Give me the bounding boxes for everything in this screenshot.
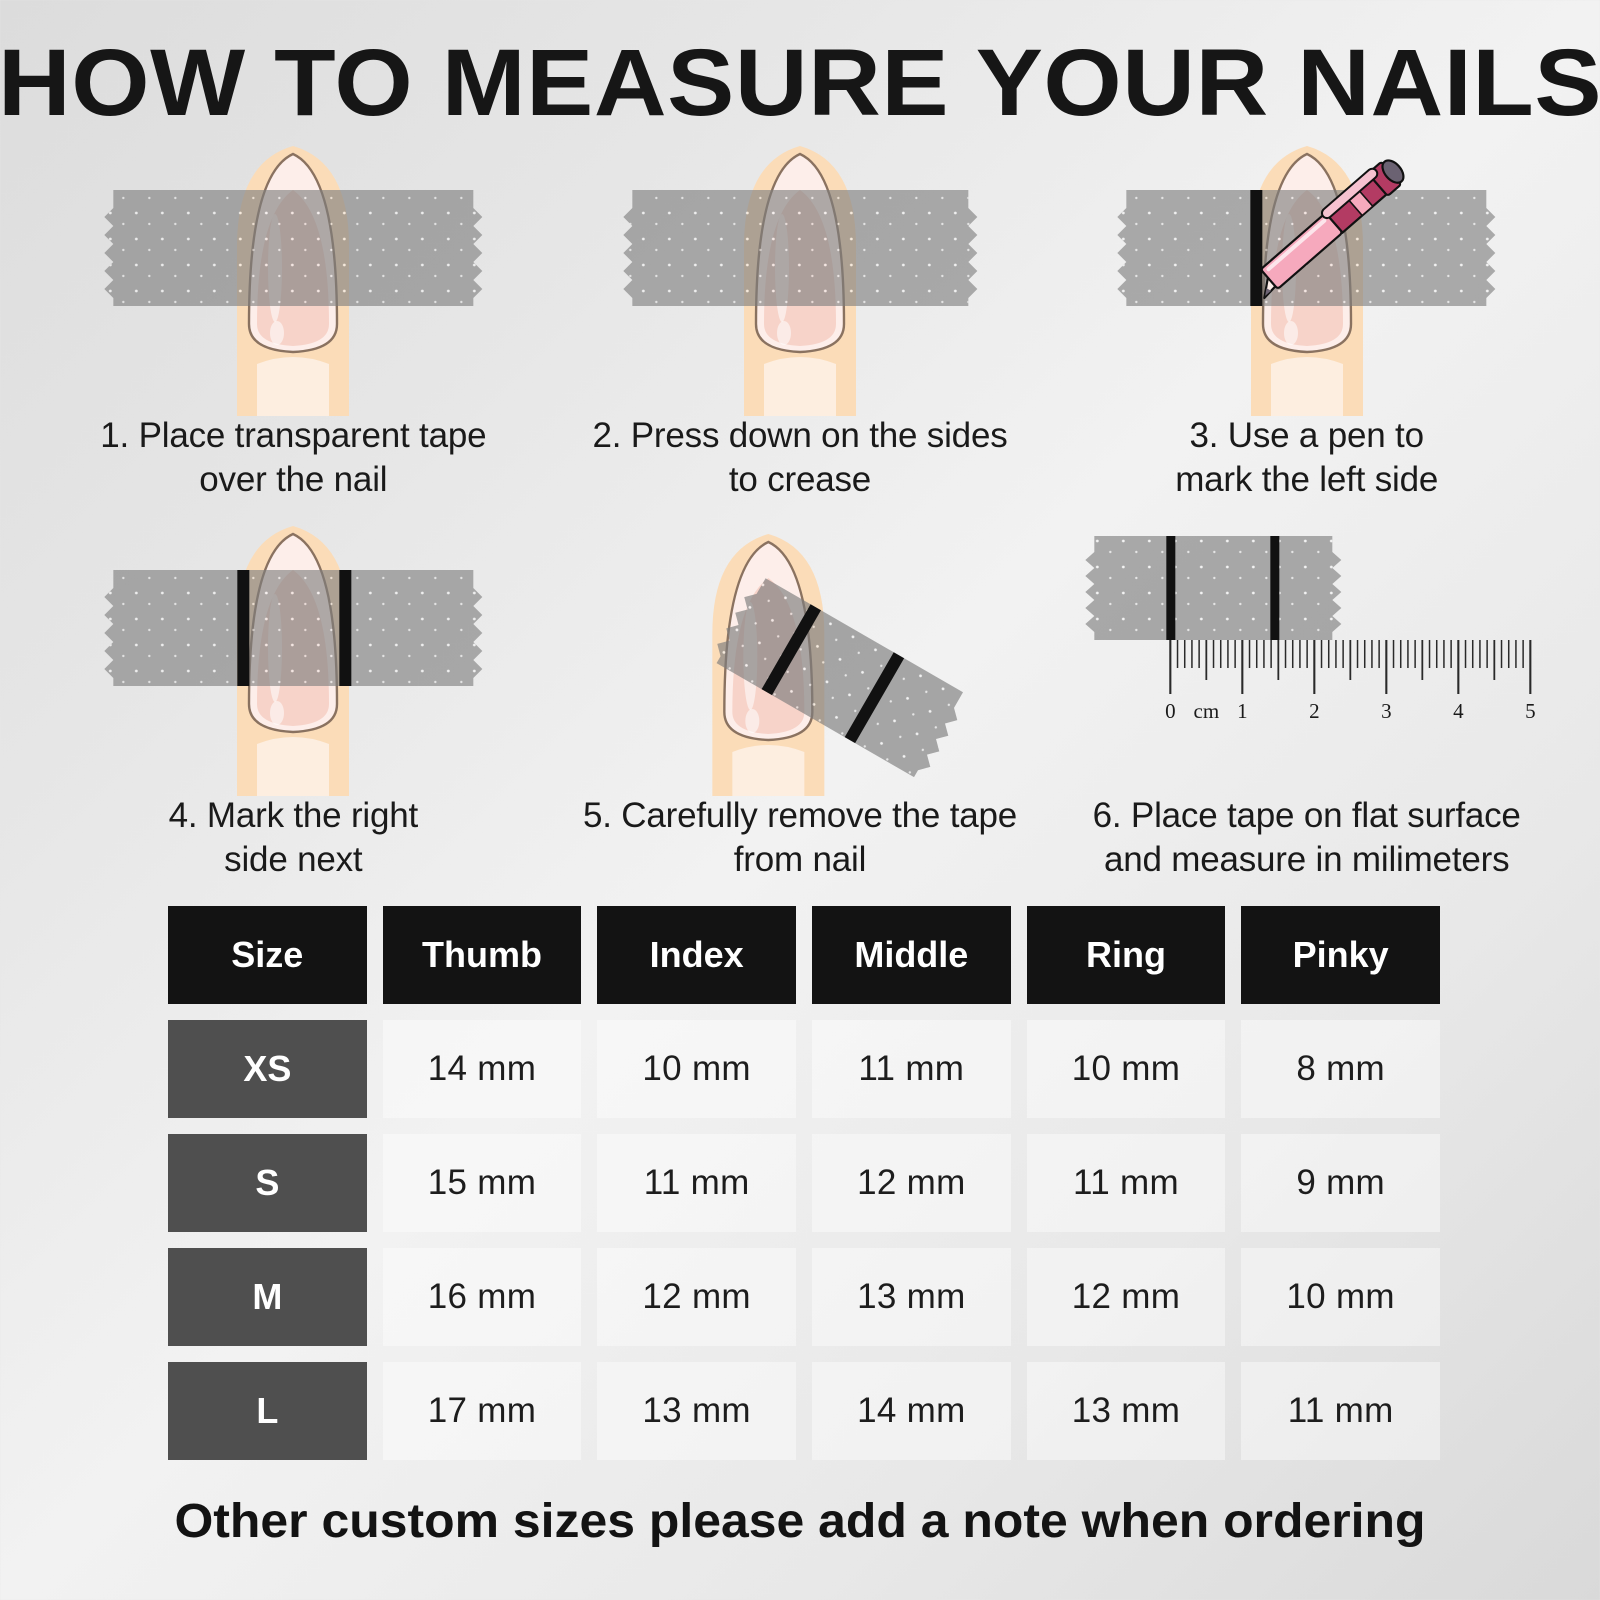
nail-shape xyxy=(724,542,812,740)
table-cell: 13 mm xyxy=(597,1362,796,1460)
tape-strip-flat xyxy=(1086,536,1342,640)
step-6: 0 cm 1 2 3 4 5 6. Place tape on flat sur… xyxy=(1053,508,1560,888)
step-6-caption-line1: 6. Place tape on flat surface xyxy=(1093,796,1521,835)
finger-shape xyxy=(712,534,824,796)
nail-bed xyxy=(732,578,804,734)
nail-gloss-long xyxy=(743,602,757,710)
table-cell: 11 mm xyxy=(1027,1134,1226,1232)
table-header-size: Size xyxy=(168,906,367,1004)
step-2-caption-line2: to crease xyxy=(729,460,871,499)
ruler-ticks xyxy=(1171,640,1531,694)
step-4-caption: 4. Mark the right side next xyxy=(40,794,547,883)
finger-pen-illustration xyxy=(1207,128,1407,416)
custom-sizes-note: Other custom sizes please add a note whe… xyxy=(0,1494,1600,1549)
table-row: L xyxy=(168,1362,367,1460)
table-header-middle: Middle xyxy=(812,906,1011,1004)
step-3-caption: 3. Use a pen to mark the left side xyxy=(1053,414,1560,503)
step-2: 2. Press down on the sides to crease xyxy=(547,128,1054,508)
step-1-caption: 1. Place transparent tape over the nail xyxy=(40,414,547,503)
step-6-illustration: 0 cm 1 2 3 4 5 xyxy=(1053,508,1560,796)
step-5-caption: 5. Carefully remove the tape from nail xyxy=(547,794,1054,883)
table-cell: 15 mm xyxy=(383,1134,582,1232)
nail-gloss-dot xyxy=(270,701,284,725)
finger-highlight xyxy=(257,737,329,796)
nail-gloss-long xyxy=(775,214,789,322)
step-3: 3. Use a pen to mark the left side xyxy=(1053,128,1560,508)
steps-grid: 1. Place transparent tape over the nail xyxy=(40,128,1560,888)
table-cell: 12 mm xyxy=(1027,1248,1226,1346)
nail-gloss-long xyxy=(1282,214,1296,322)
table-cell: 8 mm xyxy=(1241,1020,1440,1118)
step-3-illustration xyxy=(1053,128,1560,416)
step-1-caption-line1: 1. Place transparent tape xyxy=(100,416,486,455)
step-5-caption-line2: from nail xyxy=(734,840,866,879)
finger-tape-removal-illustration xyxy=(547,508,1054,796)
table-cell: 11 mm xyxy=(597,1134,796,1232)
step-4-caption-line2: side next xyxy=(224,840,362,879)
step-4-illustration xyxy=(40,508,547,796)
nail-gloss-dot xyxy=(1284,321,1298,345)
table-cell: 17 mm xyxy=(383,1362,582,1460)
step-2-caption: 2. Press down on the sides to crease xyxy=(547,414,1054,503)
table-cell: 9 mm xyxy=(1241,1134,1440,1232)
step-1-illustration xyxy=(40,128,547,416)
table-cell: 14 mm xyxy=(812,1362,1011,1460)
step-4-caption-line1: 4. Mark the right xyxy=(169,796,418,835)
finger-highlight xyxy=(732,745,804,796)
step-2-illustration xyxy=(547,128,1054,416)
step-3-caption-line2: mark the left side xyxy=(1175,460,1438,499)
ruler-label-3: 3 xyxy=(1381,699,1392,723)
step-5: 5. Carefully remove the tape from nail xyxy=(547,508,1054,888)
ruler-label-0: 0 xyxy=(1165,699,1176,723)
step-5-illustration xyxy=(547,508,1054,796)
page-title: HOW TO MEASURE YOUR NAILS xyxy=(0,36,1600,131)
table-cell: 10 mm xyxy=(1241,1248,1440,1346)
table-cell: 10 mm xyxy=(1027,1020,1226,1118)
finger-group xyxy=(712,534,824,796)
table-cell: 13 mm xyxy=(812,1248,1011,1346)
table-cell: 11 mm xyxy=(1241,1362,1440,1460)
ruler-labels: 0 cm 1 2 3 4 5 xyxy=(1165,699,1536,723)
mark-left xyxy=(761,604,820,695)
table-row: XS xyxy=(168,1020,367,1118)
nail-gloss-dot xyxy=(777,321,791,345)
ruler-unit-label: cm xyxy=(1194,699,1220,723)
ruler-label-4: 4 xyxy=(1453,699,1464,723)
table-header-index: Index xyxy=(597,906,796,1004)
finger-with-tape-illustration xyxy=(193,128,393,416)
finger-highlight xyxy=(257,357,329,416)
table-cell: 14 mm xyxy=(383,1020,582,1118)
table-header-pinky: Pinky xyxy=(1241,906,1440,1004)
step-6-caption-line2: and measure in milimeters xyxy=(1104,840,1509,879)
mark-right xyxy=(844,652,903,743)
table-cell: 10 mm xyxy=(597,1020,796,1118)
tape-mark-start xyxy=(1167,536,1176,640)
table-cell: 13 mm xyxy=(1027,1362,1226,1460)
tape-on-ruler-illustration: 0 cm 1 2 3 4 5 xyxy=(1053,508,1560,796)
tape-mark-end xyxy=(1271,536,1280,640)
ruler-label-1: 1 xyxy=(1237,699,1248,723)
table-cell: 12 mm xyxy=(597,1248,796,1346)
table-header-thumb: Thumb xyxy=(383,906,582,1004)
step-3-caption-line1: 3. Use a pen to xyxy=(1189,416,1423,455)
finger-highlight xyxy=(1271,357,1343,416)
tape-marks-peeled xyxy=(761,604,904,743)
table-header-ring: Ring xyxy=(1027,906,1226,1004)
nail-gloss-long xyxy=(268,214,282,322)
step-2-caption-line1: 2. Press down on the sides xyxy=(592,416,1007,455)
size-chart-table: Size Thumb Index Middle Ring Pinky XS 14… xyxy=(168,906,1440,1460)
finger-creased-tape-illustration xyxy=(700,128,900,416)
nail-gloss-dot xyxy=(745,709,759,733)
ruler-label-2: 2 xyxy=(1309,699,1320,723)
tape-strip-peeled xyxy=(708,574,970,782)
table-cell: 11 mm xyxy=(812,1020,1011,1118)
step-1: 1. Place transparent tape over the nail xyxy=(40,128,547,508)
table-cell: 16 mm xyxy=(383,1248,582,1346)
step-5-caption-line1: 5. Carefully remove the tape xyxy=(583,796,1017,835)
finger-two-marks-illustration xyxy=(193,508,393,796)
ruler-label-5: 5 xyxy=(1525,699,1536,723)
table-row: S xyxy=(168,1134,367,1232)
step-6-caption: 6. Place tape on flat surface and measur… xyxy=(1053,794,1560,883)
step-4: 4. Mark the right side next xyxy=(40,508,547,888)
step-1-caption-line2: over the nail xyxy=(199,460,387,499)
table-cell: 12 mm xyxy=(812,1134,1011,1232)
nail-gloss-dot xyxy=(270,321,284,345)
table-row: M xyxy=(168,1248,367,1346)
nail-gloss-long xyxy=(268,594,282,702)
finger-highlight xyxy=(764,357,836,416)
